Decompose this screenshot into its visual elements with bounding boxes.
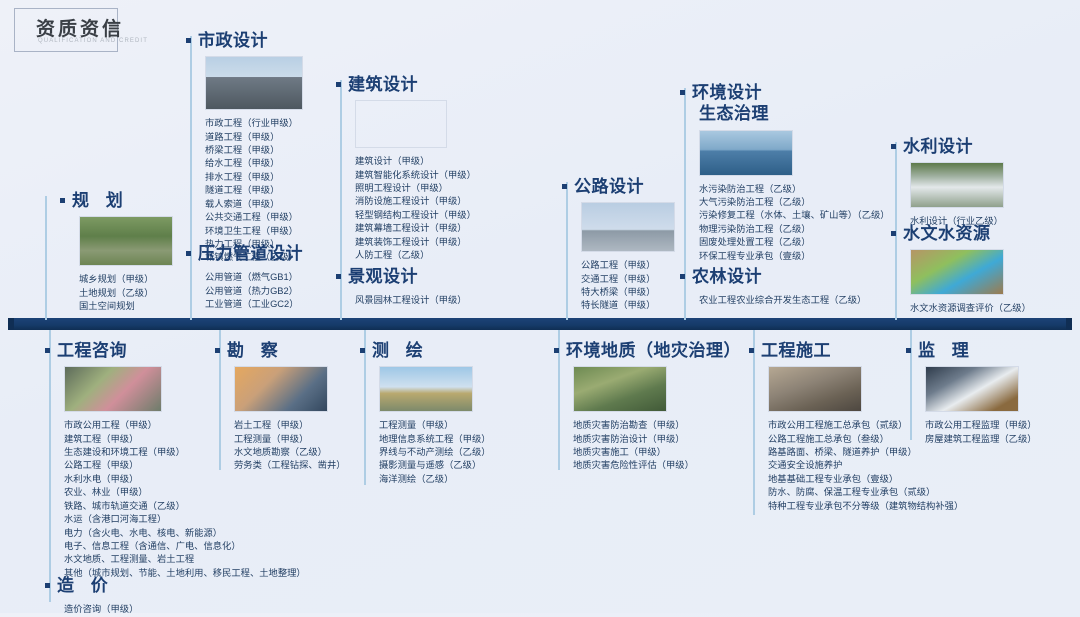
group-surveying-mapping-thumbnail [379, 366, 473, 412]
group-prospecting-items: 岩土工程（甲级） 工程测量（甲级） 水文地质勘察（乙级） 劳务类（工程钻探、凿井… [234, 419, 346, 473]
group-municipal-design-title: 市政设计 [186, 30, 303, 51]
group-pressure-pipeline-design-title: 压力管道设计 [186, 243, 303, 264]
group-planning[interactable]: 规 划 城乡规划（甲级） 土地规划（乙级） 国土空间规划 [60, 190, 173, 313]
list-item: 城乡规划（甲级） [79, 273, 173, 286]
list-item: 隧道工程（甲级） [205, 184, 303, 197]
list-item: 国土空间规划 [79, 300, 173, 313]
bullet-square-icon [562, 184, 567, 189]
list-item: 房屋建筑工程监理（乙级） [925, 433, 1037, 446]
bullet-square-icon [45, 348, 50, 353]
list-item: 道路工程（甲级） [205, 131, 303, 144]
list-item: 地质灾害施工（甲级） [573, 446, 741, 459]
bullet-square-icon [680, 274, 685, 279]
group-architectural-design-thumbnail [355, 100, 447, 148]
group-hydrology-water-resources-thumbnail [910, 249, 1004, 295]
list-item: 劳务类（工程钻探、凿井） [234, 459, 346, 472]
group-highway-design-title: 公路设计 [562, 176, 675, 197]
list-item: 建筑幕墙工程设计（甲级） [355, 222, 476, 235]
group-agriculture-forestry-design-items: 农业工程农业综合开发生态工程（乙级） [699, 294, 866, 307]
list-item: 工程测量（甲级） [379, 419, 491, 432]
list-item: 环保工程专业承包（壹级） [699, 250, 890, 263]
qualification-infographic: 资质资信 QUALIFICATION AND CREDIT 规 划 城乡规划（甲… [0, 0, 1080, 613]
list-item: 市政工程（行业甲级） [205, 117, 303, 130]
list-item: 海洋测绘（乙级） [379, 473, 491, 486]
group-environmental-geology-items: 地质灾害防治勘查（甲级） 地质灾害防治设计（甲级） 地质灾害施工（甲级） 地质灾… [573, 419, 741, 473]
group-environmental-design-subtitle: 生态治理 [699, 103, 890, 124]
bullet-square-icon [891, 144, 896, 149]
list-item: 公路工程（甲级） [581, 259, 675, 272]
group-architectural-design-items: 建筑设计（甲级） 建筑智能化系统设计（甲级） 照明工程设计（甲级） 消防设施工程… [355, 155, 476, 262]
list-item: 地质灾害防治设计（甲级） [573, 433, 741, 446]
group-environmental-geology-thumbnail [573, 366, 667, 412]
group-cost-estimation-title: 造 价 [45, 575, 138, 596]
list-item: 建筑装饰工程设计（甲级） [355, 236, 476, 249]
axis-right-cap [1066, 318, 1072, 330]
list-item: 岩土工程（甲级） [234, 419, 346, 432]
group-water-conservancy-design-title: 水利设计 [891, 136, 1004, 157]
logo-subtitle: QUALIFICATION AND CREDIT [38, 38, 148, 44]
list-item: 给水工程（甲级） [205, 157, 303, 170]
group-highway-design[interactable]: 公路设计 公路工程（甲级） 交通工程（甲级） 特大桥梁（甲级） 特长隧道（甲级） [562, 176, 675, 313]
list-item: 固废处理处置工程（乙级） [699, 236, 890, 249]
group-supervision[interactable]: 监 理 市政公用工程监理（甲级） 房屋建筑工程监理（乙级） [906, 340, 1037, 446]
list-item: 公共交通工程（甲级） [205, 211, 303, 224]
list-item: 风景园林工程设计（甲级） [355, 294, 467, 307]
list-item: 地理信息系统工程（甲级） [379, 433, 491, 446]
bullet-square-icon [906, 348, 911, 353]
group-engineering-construction-thumbnail [768, 366, 862, 412]
group-hydrology-water-resources-items: 水文水资源调查评价（乙级） [910, 302, 1031, 315]
group-surveying-mapping-title: 测 绘 [360, 340, 491, 361]
group-environmental-design-items: 水污染防治工程（乙级） 大气污染防治工程（乙级） 污染修复工程（水体、土壤、矿山… [699, 183, 890, 263]
group-municipal-design[interactable]: 市政设计 市政工程（行业甲级） 道路工程（甲级） 桥梁工程（甲级） 给水工程（甲… [186, 30, 303, 265]
group-engineering-consulting-thumbnail [64, 366, 162, 412]
bullet-square-icon [336, 274, 341, 279]
list-item: 消防设施工程设计（甲级） [355, 195, 476, 208]
list-item: 电子、信息工程（含通信、广电、信息化） [64, 540, 306, 553]
bullet-square-icon [360, 348, 365, 353]
bullet-square-icon [186, 251, 191, 256]
group-supervision-thumbnail [925, 366, 1019, 412]
list-item: 水运（含港口河海工程） [64, 513, 306, 526]
group-prospecting-title: 勘 察 [215, 340, 346, 361]
logo-block: 资质资信 QUALIFICATION AND CREDIT [14, 4, 138, 56]
list-item: 公用管道（热力GB2） [205, 285, 303, 298]
group-environmental-design[interactable]: 环境设计 生态治理 水污染防治工程（乙级） 大气污染防治工程（乙级） 污染修复工… [680, 82, 890, 263]
list-item: 地质灾害危险性评估（甲级） [573, 459, 741, 472]
list-item: 特大桥梁（甲级） [581, 286, 675, 299]
group-hydrology-water-resources-title: 水文水资源 [891, 223, 1031, 244]
list-item: 污染修复工程（水体、土壤、矿山等）（乙级） [699, 209, 890, 222]
group-landscape-design-items: 风景园林工程设计（甲级） [355, 294, 467, 307]
list-item: 交通工程（甲级） [581, 273, 675, 286]
list-item: 市政公用工程监理（甲级） [925, 419, 1037, 432]
list-item: 工程测量（甲级） [234, 433, 346, 446]
group-water-conservancy-design-thumbnail [910, 162, 1004, 208]
group-pressure-pipeline-design[interactable]: 压力管道设计 公用管道（燃气GB1） 公用管道（热力GB2） 工业管道（工业GC… [186, 243, 303, 311]
stem-planning [45, 196, 47, 320]
group-agriculture-forestry-design-title: 农林设计 [680, 266, 866, 287]
list-item: 物理污染防治工程（乙级） [699, 223, 890, 236]
list-item: 水文地质、工程测量、岩土工程 [64, 553, 306, 566]
bullet-square-icon [186, 38, 191, 43]
list-item: 人防工程（乙级） [355, 249, 476, 262]
list-item: 防水、防腐、保温工程专业承包（贰级） [768, 486, 963, 499]
bullet-square-icon [554, 348, 559, 353]
group-cost-estimation-items: 造价咨询（甲级） [64, 603, 138, 616]
group-supervision-title: 监 理 [906, 340, 1037, 361]
group-supervision-items: 市政公用工程监理（甲级） 房屋建筑工程监理（乙级） [925, 419, 1037, 446]
timeline-axis [14, 318, 1066, 330]
group-highway-design-thumbnail [581, 202, 675, 252]
bullet-square-icon [60, 198, 65, 203]
group-environmental-design-thumbnail [699, 130, 793, 176]
list-item: 照明工程设计（甲级） [355, 182, 476, 195]
list-item: 交通安全设施养护 [768, 459, 963, 472]
bullet-square-icon [215, 348, 220, 353]
group-pressure-pipeline-design-items: 公用管道（燃气GB1） 公用管道（热力GB2） 工业管道（工业GC2） [205, 271, 303, 311]
list-item: 轻型钢结构工程设计（甲级） [355, 209, 476, 222]
list-item: 水文水资源调查评价（乙级） [910, 302, 1031, 315]
list-item: 水污染防治工程（乙级） [699, 183, 890, 196]
list-item: 农业工程农业综合开发生态工程（乙级） [699, 294, 866, 307]
group-hydrology-water-resources[interactable]: 水文水资源 水文水资源调查评价（乙级） [891, 223, 1031, 316]
list-item: 地基基础工程专业承包（壹级） [768, 473, 963, 486]
bullet-square-icon [891, 231, 896, 236]
group-municipal-design-thumbnail [205, 56, 303, 110]
list-item: 水文地质勘察（乙级） [234, 446, 346, 459]
group-environmental-design-title: 环境设计 [680, 82, 890, 103]
list-item: 建筑设计（甲级） [355, 155, 476, 168]
list-item: 地质灾害防治勘查（甲级） [573, 419, 741, 432]
group-surveying-mapping[interactable]: 测 绘 工程测量（甲级） 地理信息系统工程（甲级） 界线与不动产测绘（乙级） 摄… [360, 340, 491, 486]
bullet-square-icon [336, 82, 341, 87]
list-item: 界线与不动产测绘（乙级） [379, 446, 491, 459]
group-landscape-design-title: 景观设计 [336, 266, 467, 287]
list-item: 工业管道（工业GC2） [205, 298, 303, 311]
logo-title: 资质资信 [36, 14, 124, 41]
group-architectural-design[interactable]: 建筑设计 建筑设计（甲级） 建筑智能化系统设计（甲级） 照明工程设计（甲级） 消… [336, 74, 476, 263]
group-landscape-design[interactable]: 景观设计 风景园林工程设计（甲级） [336, 266, 467, 308]
list-item: 特长隧道（甲级） [581, 299, 675, 312]
list-item: 建筑智能化系统设计（甲级） [355, 169, 476, 182]
list-item: 铁路、城市轨道交通（乙级） [64, 500, 306, 513]
axis-left-cap [8, 318, 14, 330]
list-item: 电力（含火电、水电、核电、新能源） [64, 527, 306, 540]
list-item: 造价咨询（甲级） [64, 603, 138, 616]
group-architectural-design-title: 建筑设计 [336, 74, 476, 95]
group-highway-design-items: 公路工程（甲级） 交通工程（甲级） 特大桥梁（甲级） 特长隧道（甲级） [581, 259, 675, 313]
group-prospecting[interactable]: 勘 察 岩土工程（甲级） 工程测量（甲级） 水文地质勘察（乙级） 劳务类（工程钻… [215, 340, 346, 473]
group-cost-estimation[interactable]: 造 价 造价咨询（甲级） [45, 575, 138, 617]
bullet-square-icon [749, 348, 754, 353]
group-planning-thumbnail [79, 216, 173, 266]
list-item: 土地规划（乙级） [79, 287, 173, 300]
group-environmental-geology[interactable]: 环境地质（地灾治理） 地质灾害防治勘查（甲级） 地质灾害防治设计（甲级） 地质灾… [554, 340, 741, 473]
list-item: 排水工程（甲级） [205, 171, 303, 184]
group-planning-title: 规 划 [60, 190, 173, 211]
list-item: 农业、林业（甲级） [64, 486, 306, 499]
group-prospecting-thumbnail [234, 366, 328, 412]
list-item: 摄影测量与遥感（乙级） [379, 459, 491, 472]
list-item: 大气污染防治工程（乙级） [699, 196, 890, 209]
list-item: 水利水电（甲级） [64, 473, 306, 486]
group-agriculture-forestry-design[interactable]: 农林设计 农业工程农业综合开发生态工程（乙级） [680, 266, 866, 308]
list-item: 公用管道（燃气GB1） [205, 271, 303, 284]
bullet-square-icon [680, 90, 685, 95]
list-item: 环境卫生工程（甲级） [205, 225, 303, 238]
list-item: 桥梁工程（甲级） [205, 144, 303, 157]
list-item: 载人索道（甲级） [205, 198, 303, 211]
list-item: 特种工程专业承包不分等级（建筑物结构补强） [768, 500, 963, 513]
group-planning-items: 城乡规划（甲级） 土地规划（乙级） 国土空间规划 [79, 273, 173, 313]
list-item: 路基路面、桥梁、隧道养护（甲级） [768, 446, 963, 459]
group-surveying-mapping-items: 工程测量（甲级） 地理信息系统工程（甲级） 界线与不动产测绘（乙级） 摄影测量与… [379, 419, 491, 486]
group-water-conservancy-design[interactable]: 水利设计 水利设计（行业乙级） [891, 136, 1004, 229]
group-environmental-geology-title: 环境地质（地灾治理） [554, 340, 741, 361]
bullet-square-icon [45, 583, 50, 588]
